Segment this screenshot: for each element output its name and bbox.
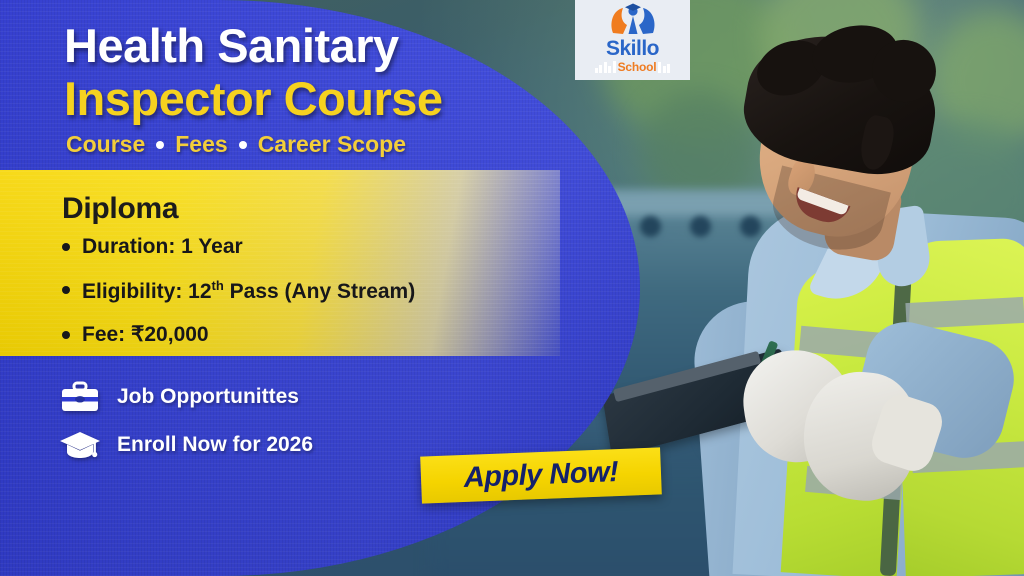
apply-now-button[interactable]: Apply Now!	[420, 447, 662, 503]
banner-content: Health Sanitary Inspector Course Course …	[0, 0, 640, 576]
brand-logo[interactable]: Skillo School	[575, 0, 690, 80]
eligibility-superscript: th	[212, 278, 224, 293]
detail-fee: Fee: ₹20,000	[62, 324, 415, 345]
subtitle-part-course: Course	[66, 131, 145, 158]
detail-duration: Duration: 1 Year	[62, 236, 415, 257]
course-details-list: Duration: 1 Year Eligibility: 12th Pass …	[62, 236, 415, 367]
graduate-figure-icon	[607, 3, 659, 37]
feature-label: Job Opportunittes	[117, 385, 299, 409]
feature-label: Enroll Now for 2026	[117, 433, 313, 457]
logo-bars-left-icon	[595, 60, 616, 73]
logo-brand-secondary-row: School	[595, 60, 671, 73]
briefcase-icon	[58, 379, 102, 415]
logo-bars-right-icon	[658, 60, 670, 73]
logo-brand-secondary: School	[618, 61, 657, 73]
headline-line-2: Inspector Course	[64, 71, 443, 126]
headline-line-1: Health Sanitary	[64, 18, 399, 73]
detail-eligibility-text: Eligibility: 12	[82, 280, 212, 303]
subtitle: Course Fees Career Scope	[66, 131, 406, 158]
section-heading-diploma: Diploma	[62, 192, 178, 226]
eligibility-tail: Pass (Any Stream)	[224, 280, 415, 303]
bullet-dot-icon	[239, 141, 247, 149]
graduation-cap-icon	[58, 427, 102, 463]
detail-eligibility: Eligibility: 12th Pass (Any Stream)	[62, 279, 415, 302]
promotional-banner: Health Sanitary Inspector Course Course …	[0, 0, 1024, 576]
subtitle-part-fees: Fees	[175, 131, 227, 158]
subtitle-part-career-scope: Career Scope	[258, 131, 406, 158]
logo-brand-primary: Skillo	[606, 38, 659, 59]
feature-enroll-now: Enroll Now for 2026	[58, 427, 313, 463]
feature-job-opportunities: Job Opportunittes	[58, 379, 299, 415]
bullet-dot-icon	[156, 141, 164, 149]
apply-now-label: Apply Now!	[463, 456, 619, 495]
